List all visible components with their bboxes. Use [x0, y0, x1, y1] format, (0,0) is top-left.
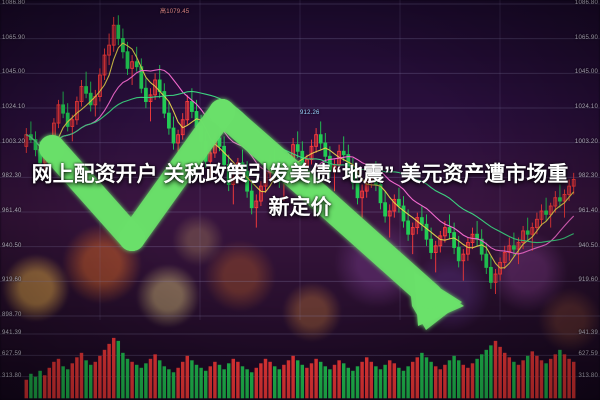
headline-text: 网上配资开户 关税政策引发美债“地震” 美元资产遭市场重新定价: [30, 158, 570, 224]
news-card: 1086.801065.901045.001024.101003.20982.3…: [0, 0, 600, 400]
